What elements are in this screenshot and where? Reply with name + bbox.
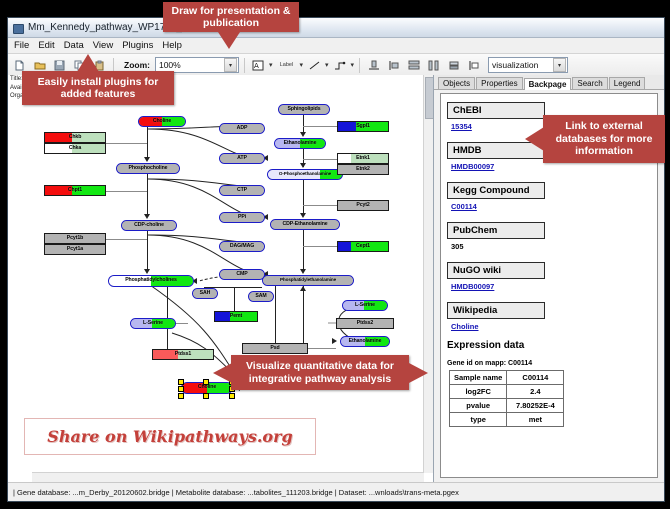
svg-text:A: A: [254, 62, 259, 70]
node-sgpl1[interactable]: Sgpl1: [337, 121, 389, 132]
table-cell-value: 7.80252E-4: [507, 399, 564, 413]
edge-pemt-vertical: [234, 287, 235, 311]
menu-bar: File Edit Data View Plugins Help: [8, 38, 664, 54]
arrow-down-3: [144, 269, 150, 274]
node-label: Psd: [270, 346, 279, 351]
node-adp[interactable]: ADP: [219, 123, 265, 134]
node-label: Ptdss2: [357, 321, 373, 326]
node-label: PPi: [238, 215, 246, 220]
node-pemt[interactable]: Pemt: [214, 311, 258, 322]
node-etnk2[interactable]: Etnk2: [337, 164, 389, 175]
node-sah[interactable]: SAH: [192, 288, 218, 299]
node-label: L-Serine: [355, 303, 375, 308]
edge-sgpl1-stub: [303, 126, 337, 127]
node-ppi[interactable]: PPi: [219, 212, 265, 223]
distribute-vertical-icon[interactable]: [405, 57, 422, 74]
arrow-down-4: [300, 132, 306, 137]
screenshot-root: Mm_Kennedy_pathway_WP1771_45176.gpml Fil…: [0, 0, 670, 509]
visualization-value: visualization: [492, 60, 538, 70]
chevron-down-icon[interactable]: ▾: [224, 58, 237, 72]
callout-share: Share on Wikipathways.org: [24, 418, 316, 455]
callout-text: Link to external databases for more info…: [543, 120, 665, 157]
node-label: Phosphatidylcholines: [125, 278, 177, 283]
status-bar: | Gene database: ...m_Derby_20120602.bri…: [8, 482, 664, 501]
edge-pe-psd: [275, 286, 276, 344]
node-pcyt1b[interactable]: Pcyt1b: [44, 233, 106, 244]
callout-links: Link to external databases for more info…: [543, 115, 665, 163]
callout-text: Visualize quantitative data for integrat…: [231, 360, 409, 385]
node-chpt1[interactable]: Chpt1: [44, 185, 106, 196]
node-l-serine-left[interactable]: L-Serine: [130, 318, 176, 329]
node-label: Pcyt1a: [67, 247, 83, 252]
edge-pcyt1-to-backbone: [106, 239, 147, 240]
table-row: log2FC 2.4: [450, 385, 564, 399]
table-cell-value: met: [507, 413, 564, 427]
node-label: SAM: [255, 294, 266, 299]
node-label: Choline: [198, 385, 216, 390]
chevron-down-icon-4[interactable]: ▾: [325, 61, 329, 69]
callout-visualize-tail-right: [409, 363, 428, 383]
menu-item-edit[interactable]: Edit: [38, 40, 54, 51]
edge-pcyt2-stub: [303, 205, 337, 206]
node-label: Ethanolamine: [349, 339, 382, 344]
edge-cdpetn-pe: [303, 230, 304, 272]
node-chkb[interactable]: Chkb: [44, 132, 106, 143]
node-ethanolamine-2[interactable]: Ethanolamine: [340, 336, 390, 347]
node-label: Chpt1: [68, 188, 82, 193]
menu-item-view[interactable]: View: [93, 40, 113, 51]
order-icon[interactable]: [465, 57, 482, 74]
node-pcyt1a[interactable]: Pcyt1a: [44, 244, 106, 255]
node-ctp[interactable]: CTP: [219, 185, 265, 196]
visualization-combo[interactable]: visualization ▾: [488, 57, 568, 73]
node-label: Pcyt2: [356, 203, 369, 208]
node-label: CTP: [237, 188, 247, 193]
chevron-down-icon-2[interactable]: ▾: [269, 61, 273, 69]
toolbar-separator-3: [359, 58, 360, 73]
node-cmp[interactable]: CMP: [219, 269, 265, 280]
align-left-icon[interactable]: [385, 57, 402, 74]
edge-chk-to-backbone: [106, 143, 147, 144]
chevron-down-icon-5[interactable]: ▾: [351, 61, 355, 69]
db-header-wikipedia: Wikipedia: [447, 302, 545, 319]
text-label-icon[interactable]: A: [250, 57, 267, 74]
menu-item-plugins[interactable]: Plugins: [122, 40, 153, 51]
table-cell-value: C00114: [507, 371, 564, 385]
callout-text: Draw for presentation & publication: [163, 5, 299, 30]
node-cdp-ethanolamine[interactable]: CDP-Ethanolamine: [270, 219, 340, 230]
node-label: ATP: [237, 156, 247, 161]
edge-etnk-stub: [303, 159, 337, 160]
arrow-down-6: [300, 213, 306, 218]
db-header-chebi: ChEBI: [447, 102, 545, 119]
expression-data-table: Sample name C00114 log2FC 2.4 pvalue 7.8…: [449, 370, 564, 427]
db-header-pubchem: PubChem: [447, 222, 545, 239]
node-label: O-Phosphoethanolamine: [279, 172, 331, 177]
toolbar-separator-2: [244, 58, 245, 73]
label-icon[interactable]: Label: [275, 57, 297, 74]
cofactor-curves-left: [142, 115, 272, 285]
node-chka[interactable]: Chka: [44, 143, 106, 154]
node-label: Chka: [69, 146, 81, 151]
node-dagmag[interactable]: DAG/MAG: [219, 241, 265, 252]
node-ptdss1[interactable]: Ptdss1: [152, 349, 214, 360]
edge-lserine-stub: [176, 323, 188, 324]
node-label: Ptdss1: [175, 352, 191, 357]
chevron-down-icon-3[interactable]: ▾: [299, 61, 303, 69]
edge-chpt1-to-backbone: [106, 191, 147, 192]
distribute-horizontal-icon[interactable]: [425, 57, 442, 74]
node-cept1[interactable]: Cept1: [337, 241, 389, 252]
edge-phosphocholine-cdpcholine: [147, 174, 148, 216]
tab-objects[interactable]: Objects: [438, 77, 475, 89]
menu-item-file[interactable]: File: [14, 40, 29, 51]
node-label: SAH: [200, 291, 211, 296]
node-label: Phosphatidylethanolamine: [280, 278, 336, 283]
node-label: CDP-choline: [134, 223, 164, 228]
callout-text: Share on Wikipathways.org: [47, 427, 292, 446]
node-choline-top[interactable]: Choline: [138, 116, 186, 127]
align-bottom-icon[interactable]: [365, 57, 382, 74]
gene-id-on-mapp: Gene id on mapp: C00114: [447, 360, 657, 367]
node-label: Pemt: [230, 314, 242, 319]
node-atp[interactable]: ATP: [219, 153, 265, 164]
status-bar-text: | Gene database: ...m_Derby_20120602.bri…: [8, 488, 459, 497]
db-header-nugo-wiki: NuGO wiki: [447, 262, 545, 279]
node-label: DAG/MAG: [230, 244, 254, 249]
callout-draw-tail: [218, 32, 240, 49]
zoom-value: 100%: [159, 60, 181, 70]
db-header-kegg-compound: Kegg Compound: [447, 182, 545, 199]
stack-icon[interactable]: [445, 57, 462, 74]
db-link-hmdb[interactable]: HMDB00097: [451, 162, 657, 171]
arrow-down-7: [300, 269, 306, 274]
zoom-label: Zoom:: [124, 60, 150, 70]
db-link-kegg-compound[interactable]: C00114: [451, 202, 657, 211]
callout-draw: Draw for presentation & publication: [163, 2, 299, 32]
node-label: L-Serine: [143, 321, 163, 326]
callout-plugins-tail: [77, 54, 99, 72]
node-pcyt2[interactable]: Pcyt2: [337, 200, 389, 211]
db-value-pubchem: 305: [451, 242, 657, 251]
table-cell-value: 2.4: [507, 385, 564, 399]
db-link-nugo-wiki[interactable]: HMDB00097: [451, 282, 657, 291]
title-bar: Mm_Kennedy_pathway_WP1771_45176.gpml: [8, 18, 664, 38]
node-sphingolipids[interactable]: Sphingolipids: [278, 104, 330, 115]
table-row: Sample name C00114: [450, 371, 564, 385]
canvas-horizontal-scrollbar[interactable]: [32, 472, 424, 482]
tab-search[interactable]: Search: [572, 77, 607, 89]
scroll-thumb[interactable]: [425, 77, 433, 119]
node-label: Cept1: [356, 244, 370, 249]
arrow-up-pe: [300, 286, 306, 291]
arrow-right-ethanolamine: [332, 338, 337, 344]
node-label: Sgpl1: [356, 124, 370, 129]
menu-item-help[interactable]: Help: [162, 40, 182, 51]
node-label: CDP-Ethanolamine: [282, 222, 327, 227]
tab-legend[interactable]: Legend: [609, 77, 646, 89]
node-label: Etnk2: [356, 167, 370, 172]
node-label: Chkb: [69, 135, 82, 140]
node-ethanolamine-1[interactable]: Ethanolamine: [274, 138, 326, 149]
app-icon: [12, 22, 24, 34]
node-label: Ethanolamine: [284, 141, 317, 146]
node-label: Phosphocholine: [129, 166, 168, 171]
node-phosphatidylcholines[interactable]: Phosphatidylcholines: [108, 275, 194, 287]
side-panel-tabs: Objects Properties Backpage Search Legen…: [434, 75, 664, 90]
node-psd[interactable]: Psd: [242, 343, 308, 354]
node-label: ADP: [237, 126, 248, 131]
node-label: Sphingolipids: [288, 107, 321, 112]
callout-visualize: Visualize quantitative data for integrat…: [231, 355, 409, 390]
callout-text: Easily install plugins for added feature…: [22, 76, 174, 101]
node-phosphocholine[interactable]: Phosphocholine: [116, 163, 180, 174]
line-icon[interactable]: [306, 57, 323, 74]
edge-choline-phosphocholine: [147, 127, 148, 159]
table-cell-key: type: [450, 413, 507, 427]
node-ptdss2[interactable]: Ptdss2: [336, 318, 394, 329]
menu-item-data[interactable]: Data: [64, 40, 84, 51]
node-label: Choline: [153, 119, 171, 124]
node-label: Etnk1: [356, 156, 370, 161]
node-cdp-choline[interactable]: CDP-choline: [121, 220, 177, 231]
node-sam[interactable]: SAM: [248, 291, 274, 302]
table-row: pvalue 7.80252E-4: [450, 399, 564, 413]
connector-icon[interactable]: [332, 57, 349, 74]
callout-plugins: Easily install plugins for added feature…: [22, 71, 174, 105]
expression-data-title: Expression data: [447, 340, 657, 351]
node-phosphatidylethanolamine[interactable]: Phosphatidylethanolamine: [262, 275, 354, 286]
tab-properties[interactable]: Properties: [476, 77, 522, 89]
node-l-serine-right[interactable]: L-Serine: [342, 300, 388, 311]
canvas-vertical-scrollbar[interactable]: [423, 75, 433, 473]
node-o-phosphoethanolamine[interactable]: O-Phosphoethanolamine: [267, 169, 343, 180]
table-row: type met: [450, 413, 564, 427]
arrow-down-1: [144, 157, 150, 162]
node-label: Pcyt1b: [67, 236, 83, 241]
table-cell-key: log2FC: [450, 385, 507, 399]
tab-backpage[interactable]: Backpage: [524, 78, 572, 90]
node-etnk1[interactable]: Etnk1: [337, 153, 389, 164]
arrow-down-2: [144, 214, 150, 219]
edge-pe-down: [303, 286, 304, 344]
db-link-wikipedia[interactable]: Choline: [451, 322, 657, 331]
edge-ope-cdpetn: [303, 180, 304, 216]
edge-cept1-stub: [303, 246, 337, 247]
edge-cdpcholine-ptdcholine: [147, 231, 148, 271]
table-cell-key: Sample name: [450, 371, 507, 385]
callout-visualize-tail-left: [213, 363, 232, 383]
arrow-down-5: [300, 163, 306, 168]
table-cell-key: pvalue: [450, 399, 507, 413]
callout-links-tail: [525, 127, 544, 151]
node-label: CMP: [236, 272, 247, 277]
chevron-down-icon-6[interactable]: ▾: [553, 58, 566, 72]
